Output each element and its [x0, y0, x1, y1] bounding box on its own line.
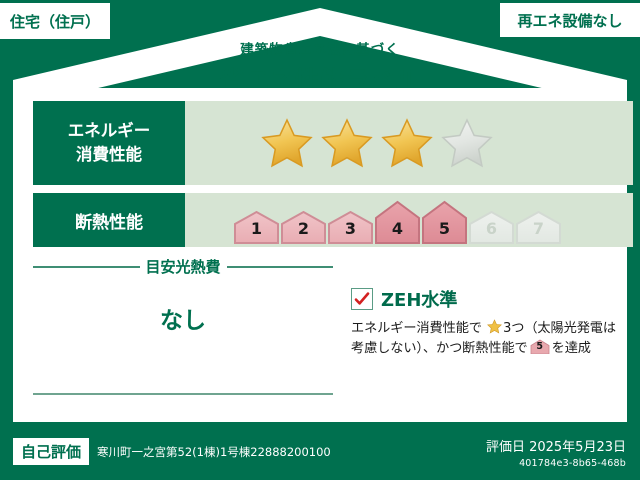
- label-body: エネルギー 消費性能 断熱性能 1234567 目安光熱費 なし: [13, 88, 627, 422]
- insulation-level-number: 2: [280, 219, 327, 238]
- evaluation-date-label: 評価日: [486, 440, 525, 455]
- zeh-desc-part4: を達成: [552, 341, 591, 356]
- building-type-label: 住宅（住戸）: [10, 11, 100, 32]
- zeh-description: エネルギー消費性能で 3つ（太陽光発電は考慮しない）、かつ断熱性能で 5 を達成: [351, 319, 623, 359]
- zeh-heading: ZEH水準: [351, 286, 623, 312]
- insulation-level-inline-badge: 5: [530, 339, 550, 354]
- energy-consumption-label: エネルギー 消費性能: [33, 101, 185, 185]
- utility-cost-heading-text: 目安光熱費: [146, 256, 221, 277]
- zeh-title: ZEH水準: [381, 286, 457, 312]
- insulation-level-number: 4: [374, 219, 421, 238]
- insulation-performance-value: 1234567: [185, 193, 633, 247]
- footer-right: 評価日 2025年5月23日 401784e3-8b65-468b: [486, 436, 626, 469]
- insulation-level-badge-1: 1: [233, 210, 280, 244]
- utility-cost-block: 目安光熱費 なし: [33, 256, 333, 335]
- utility-cost-value: なし: [33, 301, 333, 335]
- energy-label-line2: 消費性能: [76, 143, 142, 167]
- label-id: 401784e3-8b65-468b: [486, 458, 626, 469]
- star-filled-icon: [321, 117, 373, 169]
- evaluation-date-value: 2025年5月23日: [529, 440, 626, 455]
- insulation-level-number: 1: [233, 219, 280, 238]
- label-title-block: 建築物省エネ法に基づく 省エネ性能ラベル: [0, 38, 640, 95]
- title-subtitle: 建築物省エネ法に基づく: [0, 38, 640, 58]
- checkbox-checked-icon: [351, 288, 373, 310]
- insulation-performance-label: 断熱性能: [33, 193, 185, 247]
- star-filled-icon: [261, 117, 313, 169]
- energy-label-line1: エネルギー: [68, 119, 151, 143]
- insulation-level-number: 5: [421, 219, 468, 238]
- insulation-level-badge-3: 3: [327, 210, 374, 244]
- heading-rule-right: [227, 266, 334, 268]
- star-filled-icon: [381, 117, 433, 169]
- insulation-label-text: 断熱性能: [75, 208, 143, 233]
- star-empty-icon: [441, 117, 493, 169]
- inline-badge-number: 5: [530, 340, 550, 354]
- heading-rule-left: [33, 266, 140, 268]
- energy-consumption-value: [185, 101, 633, 185]
- insulation-level-badge-5: 5: [421, 200, 468, 244]
- insulation-level-badge-7: 7: [515, 210, 562, 244]
- evaluation-date: 評価日 2025年5月23日: [486, 436, 626, 455]
- energy-consumption-row: エネルギー 消費性能: [33, 101, 633, 185]
- utility-cost-heading: 目安光熱費: [33, 256, 333, 277]
- insulation-performance-row: 断熱性能 1234567: [33, 193, 633, 247]
- renewable-energy-badge: 再エネ設備なし: [500, 3, 640, 37]
- star-icon: [487, 319, 502, 334]
- insulation-level-badge-6: 6: [468, 210, 515, 244]
- renewable-energy-label: 再エネ設備なし: [517, 10, 622, 31]
- star-rating: [261, 117, 493, 169]
- energy-performance-label: 住宅（住戸） 再エネ設備なし 建築物省エネ法に基づく 省エネ性能ラベル エネルギ…: [0, 0, 640, 480]
- building-type-badge: 住宅（住戸）: [0, 3, 110, 39]
- insulation-level-scale: 1234567: [233, 190, 562, 251]
- insulation-level-badge-2: 2: [280, 210, 327, 244]
- insulation-level-number: 6: [468, 219, 515, 238]
- zeh-standard-block: ZEH水準 エネルギー消費性能で 3つ（太陽光発電は考慮しない）、かつ断熱性能で…: [351, 286, 623, 359]
- utility-cost-bottom-rule: [33, 393, 333, 395]
- property-address: 寒川町一之宮第52(1棟)1号棟22888200100: [97, 444, 331, 460]
- insulation-level-badge-4: 4: [374, 200, 421, 244]
- insulation-level-number: 3: [327, 219, 374, 238]
- footer-left: 自己評価 寒川町一之宮第52(1棟)1号棟22888200100: [13, 438, 331, 465]
- evaluation-type-badge: 自己評価: [13, 438, 89, 465]
- zeh-desc-part1: エネルギー消費性能で: [351, 321, 482, 336]
- insulation-level-number: 7: [515, 219, 562, 238]
- zeh-desc-part2: 3つ（太陽光発電: [503, 321, 603, 336]
